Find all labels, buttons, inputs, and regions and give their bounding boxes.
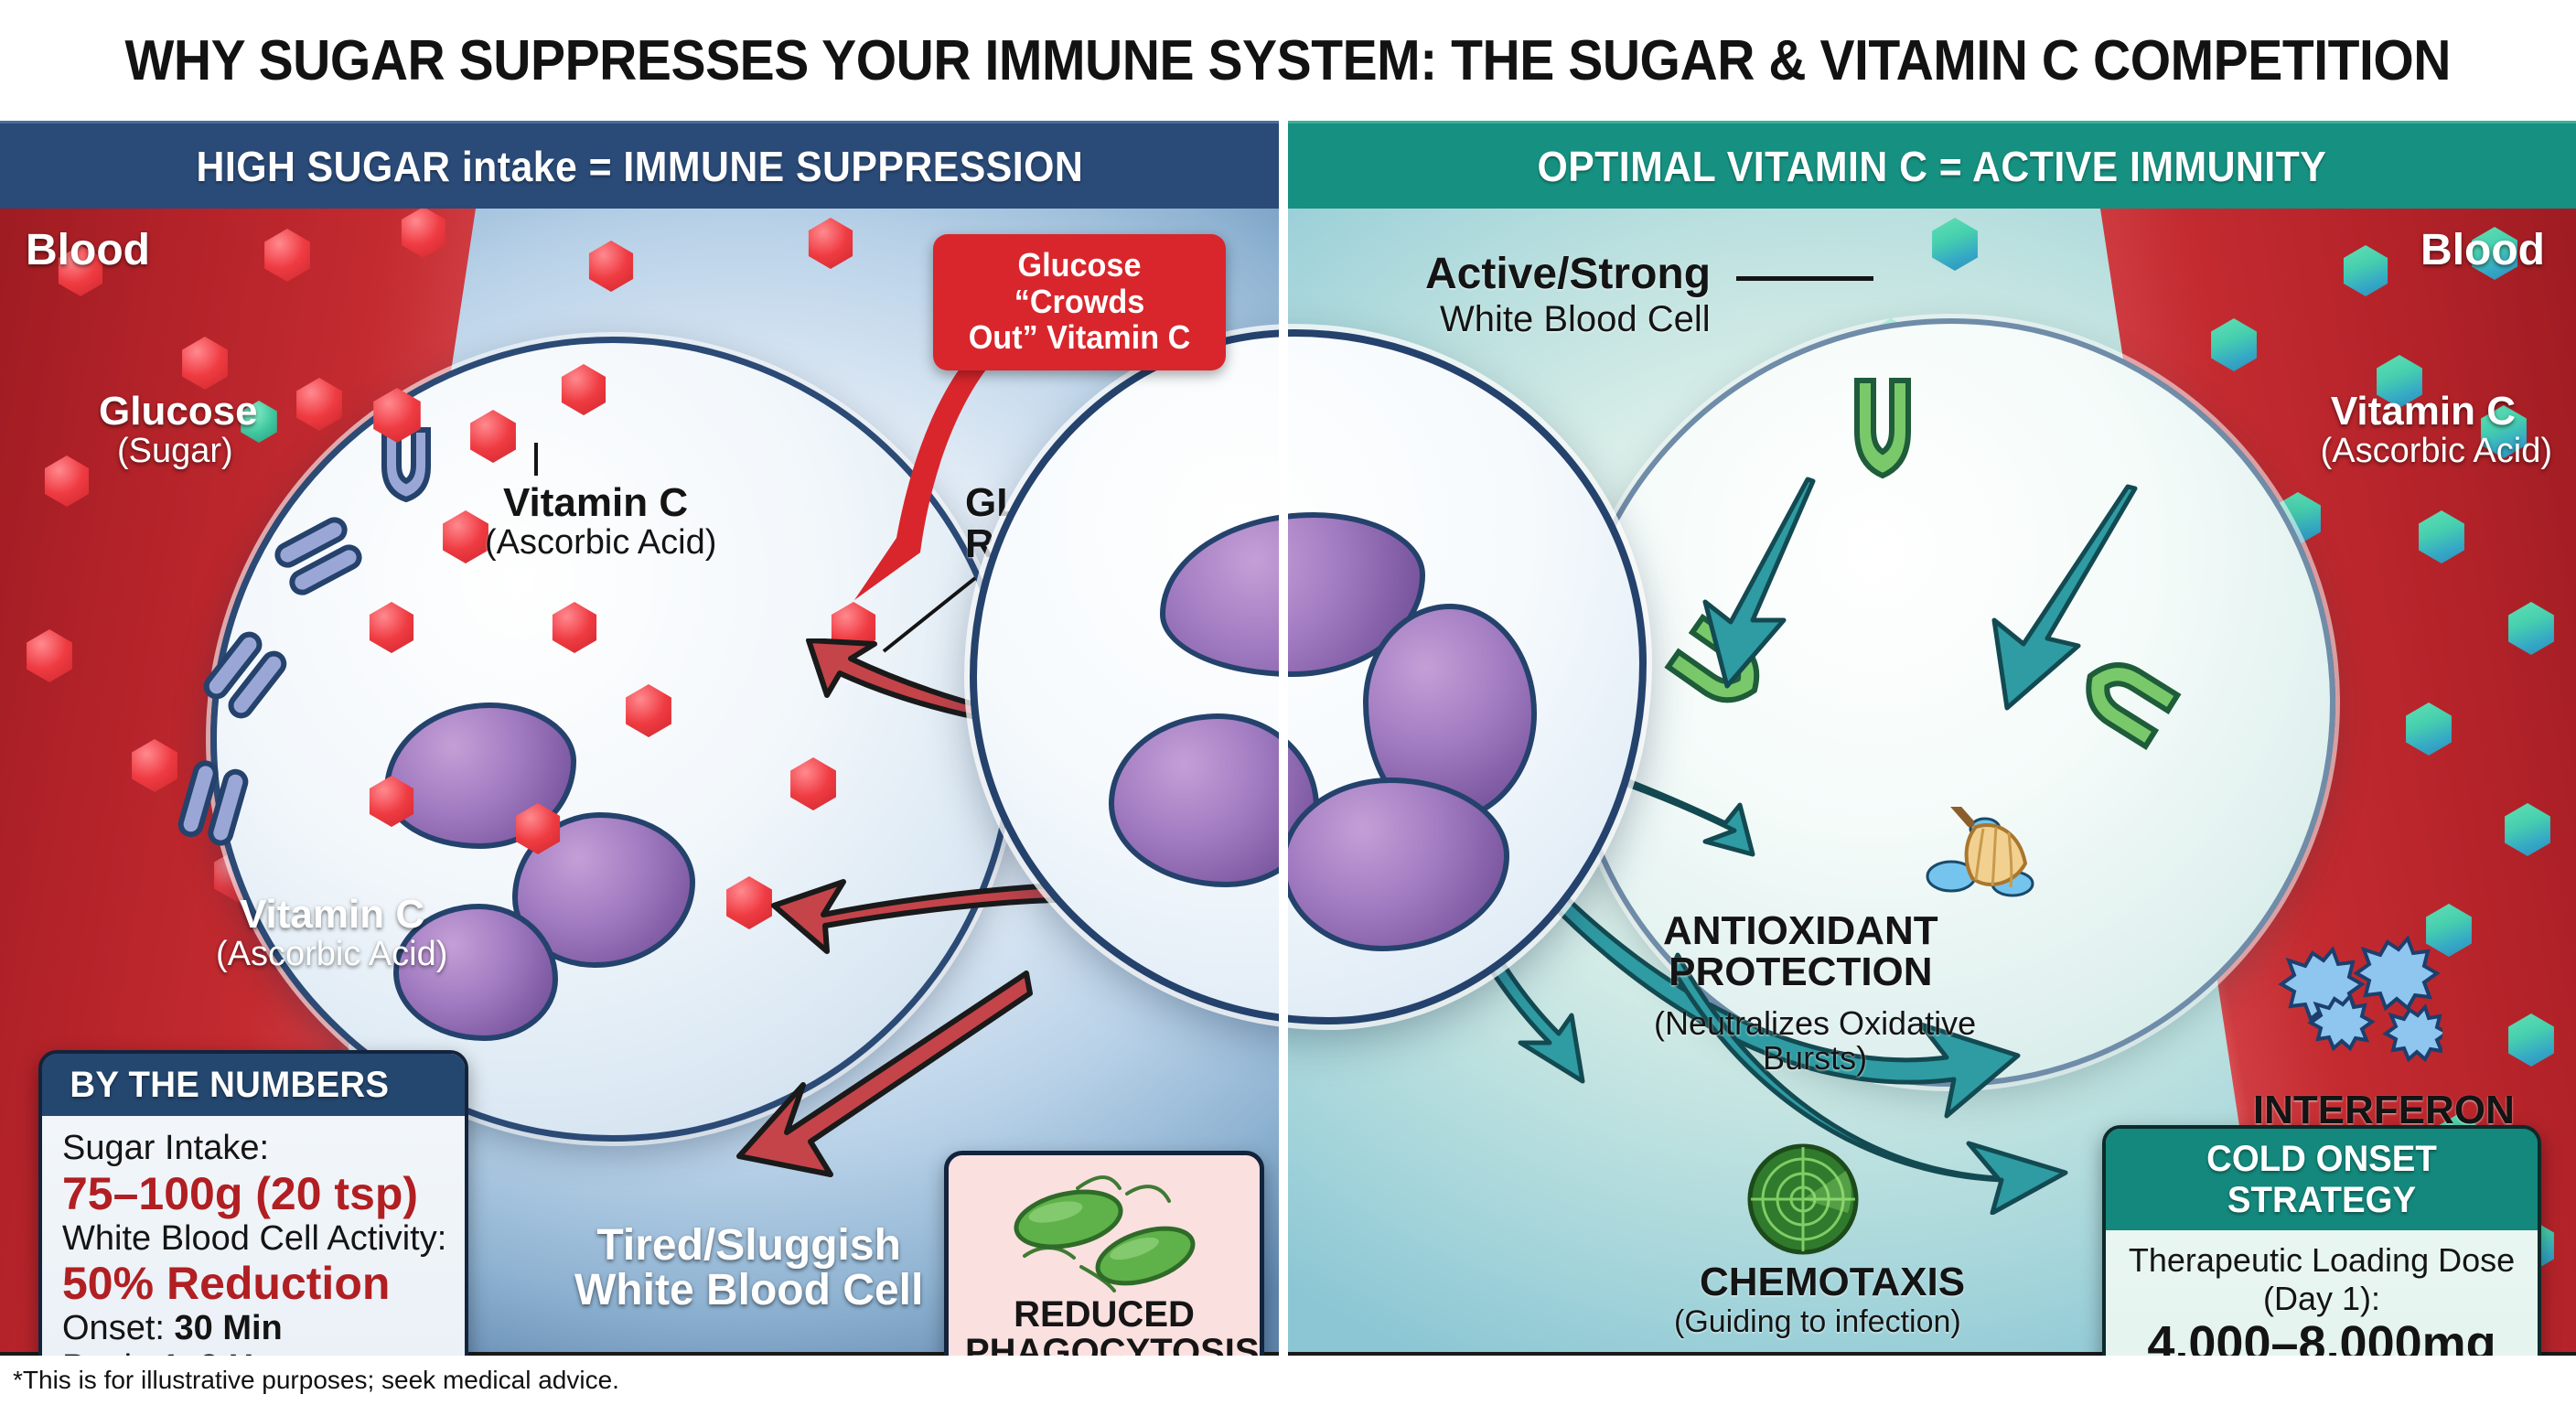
antioxidant-sub: (Neutralizes Oxidative Bursts) — [1654, 1006, 1976, 1076]
stat-value: 30 Min — [175, 1309, 283, 1347]
footer: *This is for illustrative purposes; seek… — [0, 1356, 2576, 1405]
left-panel-header: HIGH SUGAR intake = IMMUNE SUPPRESSION — [0, 121, 1279, 209]
vitamin-c-molecule — [1928, 218, 1981, 271]
broom-icon — [1919, 807, 2038, 907]
stat-value: 75–100g (20 tsp) — [62, 1168, 418, 1219]
callout-text: Glucose “Crowds Out” Vitamin C — [958, 247, 1201, 356]
cold-onset-header: COLD ONSET STRATEGY — [2106, 1129, 2538, 1230]
right-blood-label: Blood — [2420, 229, 2545, 273]
by-the-numbers-title: BY THE NUMBERS — [70, 1065, 436, 1106]
stat-label: Onset: — [62, 1309, 165, 1347]
active-cell-label-top: Active/Strong — [1425, 252, 1711, 297]
stat-label: Sugar Intake: — [62, 1129, 269, 1167]
vitamin-c-sublabel-top: (Ascorbic Acid) — [485, 525, 716, 562]
stat-row: Onset: 30 Min — [62, 1309, 445, 1348]
glucose-molecule — [585, 241, 637, 292]
glucose-sublabel: (Sugar) — [117, 434, 233, 470]
stat-label: White Blood Cell Activity: — [62, 1219, 446, 1258]
stat-value: 1–2 Hrs — [161, 1348, 286, 1356]
loading-dose-value: 4,000–8,000mg — [2122, 1318, 2521, 1356]
active-cell-leader-line — [1736, 276, 1873, 281]
stat-value: 50% Reduction — [62, 1258, 390, 1309]
cold-onset-strategy-box: COLD ONSET STRATEGY Therapeutic Loading … — [2102, 1125, 2541, 1356]
chemotaxis-title: CHEMOTAXIS — [1700, 1262, 1965, 1303]
cold-onset-body: Therapeutic Loading Dose (Day 1): 4,000–… — [2106, 1230, 2538, 1356]
virus-particles-icon — [2269, 931, 2442, 1068]
glucose-crowds-out-callout: Glucose “Crowds Out” Vitamin C — [933, 234, 1226, 370]
right-vitamin-c-label: Vitamin C — [2331, 391, 2516, 433]
suppression-arrow — [759, 849, 1061, 959]
loading-dose-label: Therapeutic Loading Dose (Day 1): — [2122, 1241, 2521, 1318]
by-the-numbers-body: Sugar Intake: 75–100g (20 tsp) White Blo… — [42, 1116, 465, 1356]
right-panel-header-text: OPTIMAL VITAMIN C = ACTIVE IMMUNITY — [1538, 142, 2327, 191]
green-bacteria-icon — [990, 1168, 1218, 1296]
phagocytosis-title: REDUCED PHAGOCYTOSIS — [965, 1296, 1243, 1356]
vitamin-c-label-bottom: Vitamin C — [240, 895, 424, 936]
panel-divider — [1279, 121, 1288, 1356]
left-blood-label: Blood — [26, 229, 150, 273]
uptake-arrow — [1700, 474, 1828, 693]
left-panel-header-text: HIGH SUGAR intake = IMMUNE SUPPRESSION — [196, 142, 1083, 191]
tired-cell-label: Tired/Sluggish White Blood Cell — [574, 1224, 923, 1314]
reduced-phagocytosis-box: REDUCED PHAGOCYTOSIS (Slowed white blood… — [944, 1151, 1264, 1356]
vitamin-c-sublabel-bottom: (Ascorbic Acid) — [216, 937, 447, 973]
by-the-numbers-box: BY THE NUMBERS Sugar Intake: 75–100g (20… — [38, 1050, 468, 1356]
right-panel-header: OPTIMAL VITAMIN C = ACTIVE IMMUNITY — [1288, 121, 2576, 209]
stat-row: White Blood Cell Activity: — [62, 1219, 445, 1259]
vitamin-c-label-top: Vitamin C — [503, 483, 688, 524]
stat-row: 50% Reduction — [62, 1258, 445, 1309]
stat-row: Peak: 1–2 Hrs — [62, 1348, 445, 1356]
infographic-root: WHY SUGAR SUPPRESSES YOUR IMMUNE SYSTEM:… — [0, 0, 2576, 1405]
vitamin-c-leader-line — [534, 443, 538, 476]
stat-label: Peak: — [62, 1348, 151, 1356]
disclaimer-text: *This is for illustrative purposes; seek… — [0, 1366, 619, 1395]
vitamin-c-transporter — [1837, 373, 1928, 483]
suppression-arrow — [732, 968, 1034, 1178]
uptake-arrow — [1983, 483, 2148, 721]
page-title: WHY SUGAR SUPPRESSES YOUR IMMUNE SYSTEM:… — [125, 28, 2451, 93]
right-vitamin-c-sublabel: (Ascorbic Acid) — [2321, 434, 2552, 470]
active-cell-sublabel-top: White Blood Cell — [1440, 300, 1711, 338]
glucose-molecule — [805, 218, 856, 269]
chemotaxis-sub: (Guiding to infection) — [1674, 1306, 1961, 1339]
glucose-label: Glucose — [99, 391, 258, 433]
radar-icon — [1744, 1140, 1862, 1259]
page-title-bar: WHY SUGAR SUPPRESSES YOUR IMMUNE SYSTEM:… — [0, 0, 2576, 121]
stat-row: Sugar Intake: — [62, 1129, 445, 1168]
cold-onset-title: COLD ONSET STRATEGY — [2132, 1139, 2512, 1221]
by-the-numbers-header: BY THE NUMBERS — [42, 1054, 465, 1116]
antioxidant-title: ANTIOXIDANT PROTECTION — [1663, 911, 1938, 993]
stat-row: 75–100g (20 tsp) — [62, 1168, 445, 1219]
